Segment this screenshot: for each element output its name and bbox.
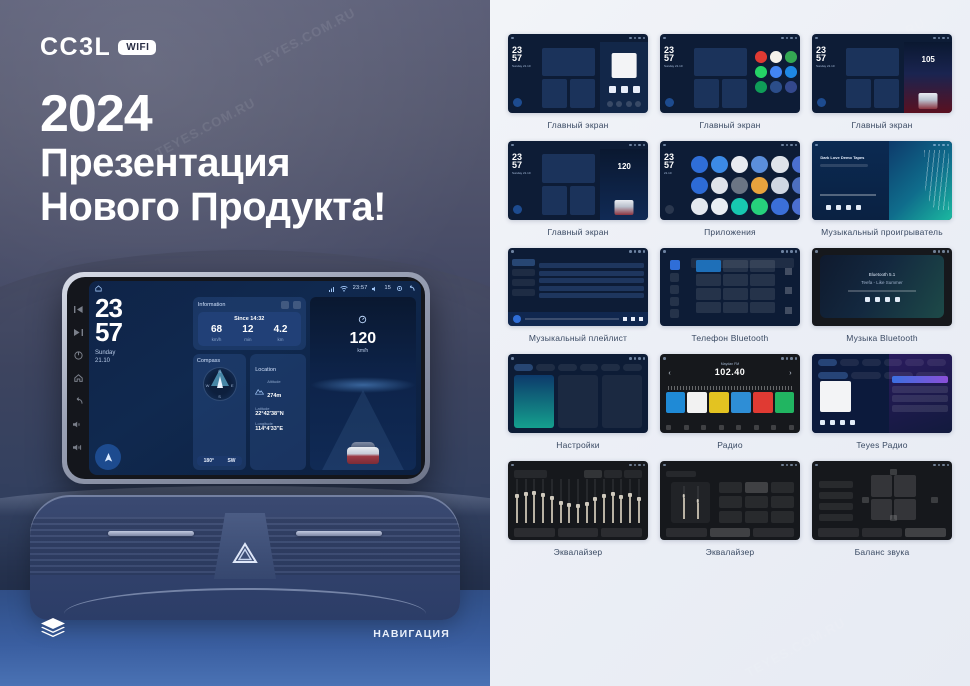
thumb-music-widget [600, 42, 648, 113]
logo-text: CC3L [40, 33, 111, 62]
player-visual-pane [889, 141, 952, 220]
preset-3 [709, 392, 728, 412]
clock-day: Sunday [95, 349, 189, 357]
eq-band [550, 479, 554, 523]
longitude-row: Longitude 114°4'33"E [255, 421, 300, 432]
key-hash [750, 302, 775, 314]
app-icon-spare3 [792, 198, 800, 215]
gallery-caption: Teyes Радио [856, 440, 907, 451]
navigation-label: НАВИГАЦИЯ [373, 628, 450, 640]
app-icon-playstore [751, 198, 768, 215]
app-icon-calculator [751, 156, 768, 173]
thumbnail-home-music[interactable]: 2357Sunday 21.10 [508, 34, 648, 113]
altitude-label: Altitude [267, 379, 281, 384]
car-interior-image: 23:57 15 [0, 250, 490, 686]
eq-bottom-tabs[interactable] [514, 528, 643, 537]
balance-down-arrow[interactable] [890, 515, 897, 521]
trip-stat: 12 min [242, 325, 253, 342]
clock-minutes: 57 [95, 321, 189, 345]
app-icon-avin [691, 156, 708, 173]
eq-band [628, 479, 632, 523]
thumb-nav-button[interactable] [817, 98, 826, 107]
gallery-grid: 2357Sunday 21.10 Главный экран [508, 34, 952, 558]
volume-up-icon[interactable] [72, 442, 84, 452]
thumb-clock: 235721.10 [664, 153, 674, 175]
radio-presets[interactable] [666, 392, 795, 412]
thumb-app-tray[interactable] [752, 42, 800, 113]
dialer-actions[interactable] [780, 262, 795, 320]
app-icon-spare [792, 156, 800, 173]
key-9 [750, 288, 775, 300]
thumb-status-bar [812, 248, 952, 256]
thumb-hud-speed: 105 [904, 55, 952, 64]
compass-title: Compass [197, 358, 242, 364]
hud-car-model [345, 438, 381, 464]
mountain-icon [255, 382, 264, 400]
head-unit-screen[interactable]: 23:57 15 [89, 281, 421, 475]
gallery-caption: Главный экран [699, 120, 760, 131]
altitude-value: 274m [267, 393, 281, 399]
gallery-caption: Радио [717, 440, 743, 451]
tile-wifi [514, 375, 554, 429]
screenshot-gallery: TEYES.COM.RU TEYES.COM.RU TEYES.COM.RU T… [490, 0, 970, 686]
eq-preset-buttons[interactable] [584, 470, 643, 478]
app-icon-gallery [771, 177, 788, 194]
thumb-info-card [542, 48, 595, 76]
tab-sound [536, 364, 555, 371]
status-time: 23:57 [353, 285, 368, 291]
seat-rl [871, 499, 892, 520]
thumbnail-equalizer-simple[interactable] [660, 461, 800, 540]
thumb-status-bar [660, 248, 800, 256]
key-6 [750, 274, 775, 286]
thumb-status-bar [508, 141, 648, 149]
information-actions[interactable] [281, 301, 301, 309]
thumb-status-bar [508, 354, 648, 362]
gallery-caption: Музыка Bluetooth [846, 333, 918, 344]
gallery-item[interactable]: Телефон Bluetooth [660, 248, 800, 345]
compass-bearing: SW [227, 458, 235, 464]
stat-value: 12 [242, 325, 253, 335]
player-extra-controls[interactable] [605, 101, 643, 107]
eq-band [515, 479, 519, 523]
preset-5 [753, 392, 772, 412]
key-3 [750, 260, 775, 272]
gallery-caption: Главный экран [547, 120, 608, 131]
thumb-clock: 2357Sunday 21.10 [816, 46, 835, 68]
settings-tabs[interactable] [514, 364, 643, 371]
thumb-hud-speed: 120 [600, 162, 648, 171]
trip-stats: Since 14:32 68 km/h 12 min [198, 312, 301, 346]
tab-display [558, 364, 577, 371]
app-icon-youtube [755, 51, 767, 63]
thumb-compass-card [542, 186, 567, 216]
key-7 [696, 288, 721, 300]
home-screen-body: 23 57 Sunday 21.10 In [89, 295, 421, 475]
app-icon-more [785, 81, 797, 93]
wifi-badge: WIFI [118, 40, 156, 55]
thumb-clock: 2357Sunday 21.10 [512, 46, 531, 68]
app-icon-camera [771, 156, 788, 173]
bt-version-label: Bluetooth 5.1 [869, 272, 896, 277]
location-card[interactable]: Location Altitude 274m [250, 354, 305, 470]
gallery-caption: Главный экран [547, 227, 608, 238]
teyes-album-art [820, 381, 851, 412]
watermark: TEYES.COM.RU [743, 615, 848, 680]
dialer-sidebar[interactable] [666, 259, 684, 320]
app-icon-carnet [711, 177, 728, 194]
seat-fl [871, 475, 892, 496]
album-art [612, 53, 637, 78]
thumb-hud-car [615, 200, 634, 216]
trip-since: Since 14:32 [201, 316, 298, 322]
thumb-status-bar [508, 248, 648, 256]
thumb-status-bar [812, 34, 952, 42]
gallery-item[interactable]: Dark Love Demo Tapes Музыкальный проигры… [812, 141, 952, 238]
thumbnail-home-hud[interactable]: 2357Sunday 21.10 120 [508, 141, 648, 220]
radio-frequency: 102.40 [660, 367, 800, 377]
star-icon [785, 268, 792, 275]
thumb-location-card [722, 79, 747, 109]
prev-station-icon[interactable]: ‹ [668, 370, 670, 377]
thumbnail-radio[interactable]: Maydan FM 102.40 ‹ › [660, 354, 800, 433]
teyes-tabs[interactable] [818, 359, 947, 366]
app-icon-filemanager [751, 177, 768, 194]
thumb-status-bar [508, 461, 648, 469]
thumbnail-settings[interactable] [508, 354, 648, 433]
playlist-mini-player[interactable] [508, 312, 648, 326]
next-station-icon[interactable]: › [789, 370, 791, 377]
thumb-status-bar [660, 34, 800, 42]
preset-2 [687, 392, 706, 412]
gallery-item[interactable]: Maydan FM 102.40 ‹ › Радио [660, 354, 800, 451]
trip-stat: 68 km/h [211, 325, 222, 342]
key-2 [723, 260, 748, 272]
gallery-caption: Баланс звука [855, 547, 910, 558]
eq-slider-bass [683, 486, 685, 519]
tab-theme [580, 364, 599, 371]
gallery-caption: Главный экран [851, 120, 912, 131]
gallery-item[interactable]: Teyes Радио [812, 354, 952, 451]
playlist-sidebar[interactable] [512, 259, 534, 309]
eq-band [576, 479, 580, 523]
thumb-body: 2357Sunday 21.10 105 [812, 42, 952, 113]
eq-slider-treble [696, 486, 698, 519]
hud-readout: 120 km/h [310, 311, 416, 354]
thumbnail-bt-music[interactable]: Bluetooth 5.1 Teefa - Like Summer [812, 248, 952, 327]
player-track-title: Dark Love Demo Tapes [820, 155, 884, 160]
eq-band-sliders[interactable] [515, 479, 641, 523]
thumb-clock: 2357Sunday 21.10 [664, 46, 683, 68]
hero-panel: TEYES.COM.RU TEYES.COM.RU TEYES.COM.RU C… [0, 0, 490, 686]
head-unit-side-buttons[interactable] [67, 277, 89, 479]
compass-dial: N E S W [203, 367, 237, 401]
gallery-item[interactable]: Настройки [508, 354, 648, 451]
app-icon-spare2 [792, 177, 800, 194]
tab-wifi [514, 364, 533, 371]
thumb-back-button[interactable] [665, 205, 674, 214]
gallery-caption: Музыкальный проигрыватель [821, 227, 943, 238]
thumb-status-bar [812, 141, 952, 149]
thumb-location-card [874, 79, 899, 109]
teyes-station-list[interactable] [892, 376, 948, 412]
eq-dual-sliders[interactable] [671, 482, 710, 523]
eq-band [559, 479, 563, 523]
radio-band: Maydan FM [660, 362, 800, 366]
thumbnail-home-apps[interactable]: 2357Sunday 21.10 [660, 34, 800, 113]
information-card[interactable]: Information Since 14:32 [193, 297, 306, 350]
app-icon-mail [785, 66, 797, 78]
navigation-arrow-icon[interactable] [95, 444, 121, 470]
bt-controls[interactable] [865, 297, 900, 302]
app-icon-music [755, 66, 767, 78]
eq-band [593, 479, 597, 523]
gallery-item[interactable]: 2357Sunday 21.10 Главный экран [508, 34, 648, 131]
seat-fr [894, 475, 915, 496]
hud-speed: 120 [310, 331, 416, 347]
head-unit-bezel: 23:57 15 [62, 272, 430, 484]
eq-band [567, 479, 571, 523]
frequency-dial[interactable] [668, 386, 791, 390]
compass-card[interactable]: Compass N E S W [193, 354, 246, 470]
app-icon-chrome [691, 177, 708, 194]
thumb-status-bar [508, 34, 648, 42]
thumb-status-bar [660, 354, 800, 362]
stat-unit: km [274, 337, 288, 342]
trip-stat-row: 68 km/h 12 min 4.2 [201, 325, 298, 342]
gallery-caption: Телефон Bluetooth [692, 333, 769, 344]
app-icon-bt-music [731, 156, 748, 173]
eq-band [637, 479, 641, 523]
preset-4 [731, 392, 750, 412]
balance-bottom-tabs[interactable] [818, 528, 947, 537]
eq-band [541, 479, 545, 523]
stat-unit: min [242, 337, 253, 342]
bt-progress-bar[interactable] [848, 290, 916, 292]
gallery-caption: Эквалайзер [706, 547, 755, 558]
progress-bar[interactable] [820, 194, 876, 196]
widgets-column: Information Since 14:32 [193, 297, 306, 470]
radio-toolbar[interactable] [660, 424, 800, 432]
speed-icon [310, 311, 416, 329]
center-console [30, 495, 460, 620]
thumb-location-card [570, 186, 595, 216]
latitude-value: 22°42'38"N [255, 411, 300, 417]
clock-date: 21.10 [95, 357, 189, 365]
thumb-status-bar [660, 461, 800, 469]
seat-rr [894, 499, 915, 520]
tile-more [602, 375, 642, 429]
prev-track-icon[interactable] [72, 304, 84, 314]
teyes-controls[interactable] [820, 420, 855, 425]
thumb-hud: 105 [904, 42, 952, 113]
home-icon[interactable] [72, 373, 84, 383]
eq-title [666, 471, 697, 477]
thumb-nav-button[interactable] [665, 98, 674, 107]
hero-title: 2024 Презентация Нового Продукта! [40, 88, 386, 229]
car-body [347, 447, 379, 464]
key-star [696, 302, 721, 314]
app-icon-maps [785, 51, 797, 63]
gallery-item[interactable]: 235721.10 [660, 141, 800, 238]
app-icon-browser [770, 51, 782, 63]
key-0 [723, 302, 748, 314]
stat-value: 4.2 [274, 325, 288, 335]
call-icon [785, 307, 792, 314]
thumbnail-teyes-radio[interactable] [812, 354, 952, 433]
thumb-body: 2357Sunday 21.10 [660, 42, 800, 113]
compass-dir-e: E [231, 383, 234, 388]
player-subtitle [820, 164, 868, 167]
compass-readout: 180° SW [197, 456, 242, 466]
tab-system [623, 364, 642, 371]
stat-value: 68 [211, 325, 222, 335]
app-icon-dvr [731, 177, 748, 194]
thumb-info-card [694, 48, 747, 76]
eq-band [585, 479, 589, 523]
clock-column: 23 57 Sunday 21.10 [95, 297, 189, 470]
compass-dir-s: S [218, 394, 221, 399]
eq-preset-label[interactable] [514, 470, 548, 478]
refresh-icon[interactable] [281, 301, 289, 309]
gallery-caption: Настройки [556, 440, 599, 451]
back-icon[interactable] [72, 396, 84, 406]
player-controls[interactable] [606, 86, 642, 93]
gallery-item[interactable]: Эквалайзер [508, 461, 648, 558]
bt-music-card: Bluetooth 5.1 Teefa - Like Summer [820, 255, 943, 318]
information-header: Information [198, 301, 301, 309]
gallery-item[interactable]: 2357Sunday 21.10 [660, 34, 800, 131]
volume-down-icon[interactable] [72, 419, 84, 429]
eq-bottom-tabs[interactable] [666, 528, 795, 537]
gallery-item[interactable]: Баланс звука [812, 461, 952, 558]
gallery-item[interactable]: Bluetooth 5.1 Teefa - Like Summer Музыка… [812, 248, 952, 345]
eq-band [611, 479, 615, 523]
trip-stat: 4.2 km [274, 325, 288, 342]
next-track-icon[interactable] [72, 327, 84, 337]
vent-slider-left[interactable] [108, 531, 194, 536]
vent-slider-right[interactable] [296, 531, 382, 536]
thumbnail-dialer[interactable] [660, 248, 800, 327]
stat-unit: km/h [211, 337, 222, 342]
thumb-body: 2357Sunday 21.10 120 [508, 149, 648, 220]
thumb-location-card [570, 79, 595, 109]
hero-year: 2024 [40, 88, 386, 141]
thumbnail-equalizer-bands[interactable] [508, 461, 648, 540]
thumbnail-playlist[interactable] [508, 248, 648, 327]
balance-mode-list[interactable] [819, 479, 853, 523]
app-icon-settings [770, 81, 782, 93]
thumb-hud: 120 [600, 149, 648, 220]
head-unit-body: 23:57 15 [67, 277, 425, 479]
hud-panel[interactable]: 120 km/h [310, 297, 416, 470]
gallery-item[interactable]: 2357Sunday 21.10 120 Главный экран [508, 141, 648, 238]
thumb-status-bar [812, 461, 952, 469]
thumb-info-card [846, 48, 899, 76]
thumb-nav-button[interactable] [513, 98, 522, 107]
app-icon-radio [771, 198, 788, 215]
information-title: Information [198, 302, 226, 308]
eq-preset-grid[interactable] [719, 482, 795, 523]
tile-carplay [558, 375, 598, 429]
thumbnail-music-player[interactable]: Dark Love Demo Tapes [812, 141, 952, 220]
thumb-nav-button[interactable] [513, 205, 522, 214]
thumb-clock: 2357Sunday 21.10 [512, 153, 531, 175]
status-bar: 23:57 15 [89, 281, 421, 295]
settings-tiles[interactable] [514, 375, 643, 429]
balance-seat-pad[interactable] [871, 475, 916, 520]
thumbnail-apps[interactable]: 235721.10 [660, 141, 800, 220]
layers-icon [40, 617, 66, 644]
tab-storage [601, 364, 620, 371]
balance-right-arrow[interactable] [931, 497, 938, 503]
console-trim [64, 588, 425, 614]
compass-dir-w: W [206, 383, 210, 388]
app-icon-google [691, 198, 708, 215]
eq-band [619, 479, 623, 523]
eq-band [532, 479, 536, 523]
playlist-rows[interactable] [539, 263, 644, 298]
app-icon-bluetooth [711, 156, 728, 173]
app-grid[interactable] [691, 156, 796, 215]
waveform-visual [924, 150, 949, 210]
watermark: TEYES.COM.RU [253, 5, 358, 70]
thumb-status-bar [660, 141, 800, 149]
compass-heading: 180° [204, 458, 214, 464]
bt-track-title: Teefa - Like Summer [861, 280, 903, 285]
preset-1 [666, 392, 685, 412]
thumb-compass-card [542, 79, 567, 109]
key-5 [723, 274, 748, 286]
backspace-icon [785, 287, 792, 294]
balance-up-arrow[interactable] [890, 469, 897, 475]
balance-left-arrow[interactable] [862, 497, 869, 503]
thumbnail-balance[interactable] [812, 461, 952, 540]
hero-title-line2: Нового Продукта! [40, 185, 386, 229]
app-icon-music [731, 198, 748, 215]
gallery-caption: Эквалайзер [554, 547, 603, 558]
location-title: Location [255, 367, 276, 373]
app-icon-play [755, 81, 767, 93]
gallery-item[interactable]: 2357Sunday 21.10 105 Главный экран [812, 34, 952, 131]
thumb-body: 235721.10 [660, 149, 800, 220]
hud-unit: km/h [310, 348, 416, 354]
keypad[interactable] [696, 260, 774, 313]
app-icon-maps [711, 198, 728, 215]
gallery-item[interactable]: Эквалайзер [660, 461, 800, 558]
thumbnail-home-hud-red[interactable]: 2357Sunday 21.10 105 [812, 34, 952, 113]
thumb-compass-card [694, 79, 719, 109]
expand-icon[interactable] [293, 301, 301, 309]
gallery-item[interactable]: Музыкальный плейлист [508, 248, 648, 345]
eq-band [602, 479, 606, 523]
eq-band [524, 479, 528, 523]
thumb-info-card [542, 154, 595, 182]
key-8 [723, 288, 748, 300]
gallery-caption: Приложения [704, 227, 756, 238]
player-controls[interactable] [826, 205, 861, 210]
latitude-row: Latitude 22°42'38"N [255, 406, 300, 417]
key-1 [696, 260, 721, 272]
compass-dir-n: N [218, 369, 221, 374]
app-icon-gallery [770, 66, 782, 78]
gallery-caption: Музыкальный плейлист [529, 333, 627, 344]
thumb-compass-card [846, 79, 871, 109]
volume-level: 15 [384, 285, 391, 291]
key-4 [696, 274, 721, 286]
widget-row: Compass N E S W [193, 354, 306, 470]
power-icon[interactable] [72, 350, 84, 360]
